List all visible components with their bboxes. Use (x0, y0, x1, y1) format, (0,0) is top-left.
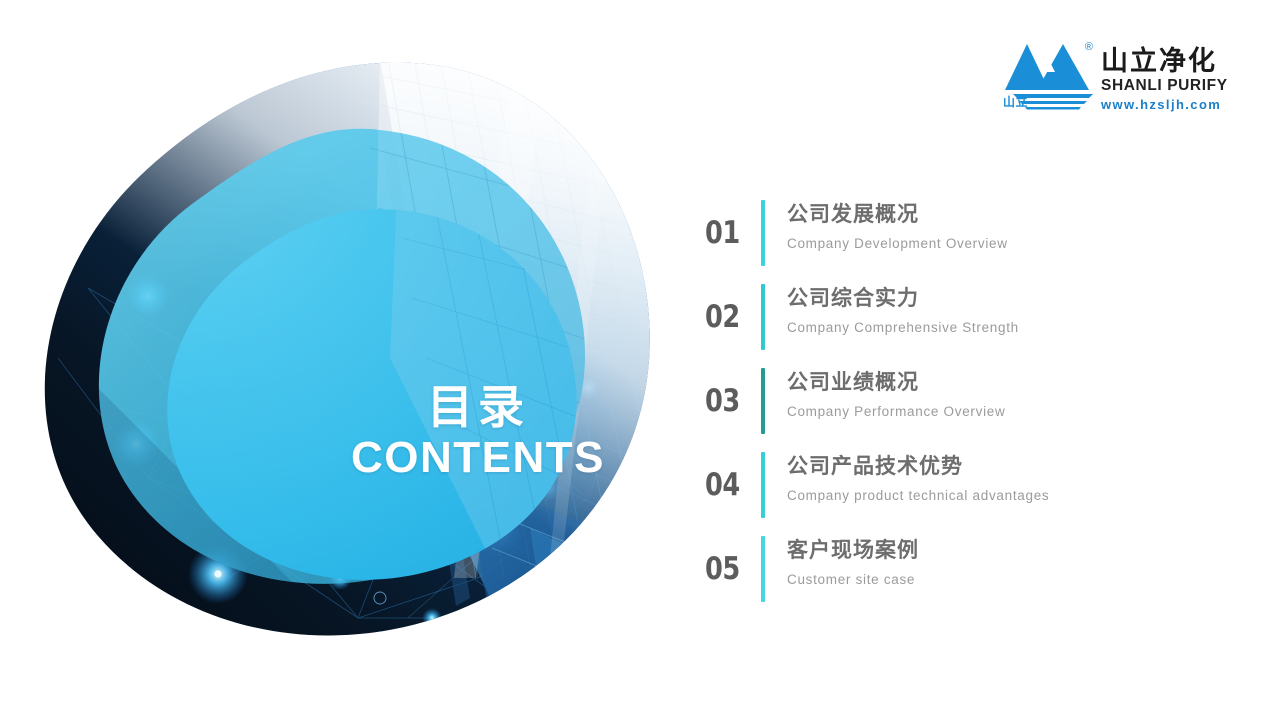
presentation-slide: 目录 CONTENTS ® 山立 山立净化 SHANLI PURIFY (0, 0, 1280, 720)
logo-brand-en: SHANLI PURIFY (1101, 77, 1228, 96)
contents-item-title-cn: 公司产品技术优势 (787, 452, 1049, 480)
contents-item-title-cn: 公司业绩概况 (787, 368, 1005, 396)
contents-item-text: 公司业绩概况 Company Performance Overview (787, 366, 1005, 422)
company-logo: ® 山立 山立净化 SHANLI PURIFY www.hzsljh.com (1003, 38, 1243, 116)
contents-item-title-en: Company Performance Overview (787, 403, 1005, 422)
contents-item-divider (761, 284, 765, 350)
contents-item-divider (761, 368, 765, 434)
registered-trademark-icon: ® (1085, 42, 1093, 53)
contents-item-number: 04 (705, 450, 753, 501)
contents-item-number: 02 (705, 282, 753, 333)
contents-item-divider (761, 536, 765, 602)
contents-item-text: 公司产品技术优势 Company product technical advan… (787, 450, 1049, 506)
contents-item-01[interactable]: 01 公司发展概况 Company Development Overview (705, 198, 1225, 282)
contents-item-title-en: Company Development Overview (787, 235, 1008, 254)
contents-item-title-cn: 客户现场案例 (787, 536, 919, 564)
contents-item-05[interactable]: 05 客户现场案例 Customer site case (705, 534, 1225, 618)
contents-item-title-en: Company Comprehensive Strength (787, 319, 1019, 338)
contents-item-title-en: Customer site case (787, 571, 919, 590)
logo-brand-cn: 山立净化 (1101, 48, 1217, 76)
contents-item-text: 客户现场案例 Customer site case (787, 534, 919, 590)
contents-item-title-cn: 公司综合实力 (787, 284, 1019, 312)
contents-item-03[interactable]: 03 公司业绩概况 Company Performance Overview (705, 366, 1225, 450)
contents-item-02[interactable]: 02 公司综合实力 Company Comprehensive Strength (705, 282, 1225, 366)
logo-website-url: www.hzsljh.com (1101, 97, 1221, 113)
contents-item-divider (761, 452, 765, 518)
mountain-logo-icon: ® 山立 (1003, 38, 1099, 112)
contents-item-text: 公司综合实力 Company Comprehensive Strength (787, 282, 1019, 338)
contents-item-04[interactable]: 04 公司产品技术优势 Company product technical ad… (705, 450, 1225, 534)
contents-item-text: 公司发展概况 Company Development Overview (787, 198, 1008, 254)
contents-item-number: 01 (705, 198, 753, 249)
contents-item-number: 03 (705, 366, 753, 417)
contents-item-title-cn: 公司发展概况 (787, 200, 1008, 228)
contents-item-number: 05 (705, 534, 753, 585)
logo-mark-label: 山立 (1003, 93, 1028, 110)
contents-item-title-en: Company product technical advantages (787, 487, 1049, 506)
contents-list: 01 公司发展概况 Company Development Overview 0… (705, 198, 1225, 618)
logo-text-block: 山立净化 SHANLI PURIFY www.hzsljh.com (1101, 38, 1228, 112)
contents-item-divider (761, 200, 765, 266)
contents-decorative-graphic: 目录 CONTENTS (28, 58, 668, 648)
